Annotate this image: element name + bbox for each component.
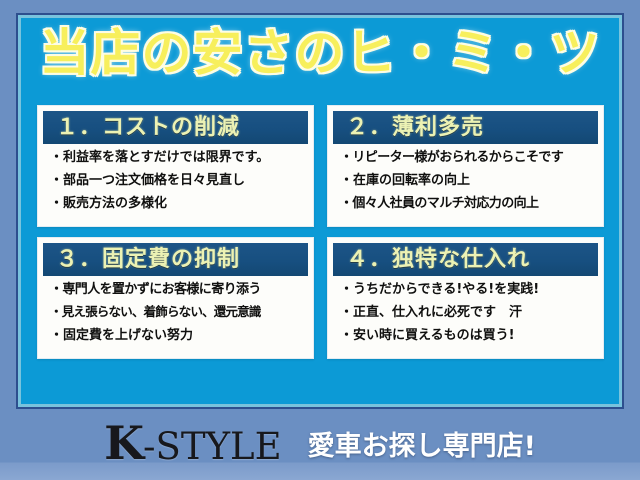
footer-bar: K-STYLE 愛車お探し専門店! <box>0 412 640 474</box>
reason-card-4: ４．独特な仕入れ ・うちだからできる!やる!を実践! ・正直、仕入れに必死です … <box>327 237 604 359</box>
reason-card-1-title: １．コストの削減 <box>43 111 308 144</box>
reason-card-3-title: ３．固定費の抑制 <box>43 243 308 276</box>
reason-card-2-title: ２．薄利多売 <box>333 111 598 144</box>
brand-logo: K-STYLE <box>104 420 282 466</box>
panel-inner-border: 当店の安さのヒ・ミ・ツ １．コストの削減 ・利益率を落とすだけでは限界です。 ・… <box>18 15 622 407</box>
brand-initial: K <box>104 416 143 470</box>
headline-title: 当店の安さのヒ・ミ・ツ <box>21 25 619 81</box>
reasons-grid: １．コストの削減 ・利益率を落とすだけでは限界です。 ・部品一つ注文価格を日々見… <box>37 105 604 359</box>
list-item: ・固定費を上げない努力 <box>50 329 304 342</box>
reason-card-2-body: ・リピーター様がおられるからこそです ・在庫の回転率の向上 ・個々人社員のマルチ… <box>333 144 598 210</box>
reason-card-1: １．コストの削減 ・利益率を落とすだけでは限界です。 ・部品一つ注文価格を日々見… <box>37 105 314 227</box>
list-item: ・安い時に買えるものは買う! <box>340 329 594 342</box>
reason-card-3: ３．固定費の抑制 ・専門人を置かずにお客様に寄り添う ・見え張らない、着飾らない… <box>37 237 314 359</box>
reason-card-2: ２．薄利多売 ・リピーター様がおられるからこそです ・在庫の回転率の向上 ・個々… <box>327 105 604 227</box>
list-item: ・専門人を置かずにお客様に寄り添う <box>50 283 304 296</box>
panel-outer-border: 当店の安さのヒ・ミ・ツ １．コストの削減 ・利益率を落とすだけでは限界です。 ・… <box>16 13 624 409</box>
footer-tagline: 愛車お探し専門店! <box>308 424 536 463</box>
list-item: ・見え張らない、着飾らない、還元意識 <box>50 306 304 319</box>
list-item: ・うちだからできる!やる!を実践! <box>340 283 594 296</box>
list-item: ・販売方法の多様化 <box>50 197 304 210</box>
reason-card-1-body: ・利益率を落とすだけでは限界です。 ・部品一つ注文価格を日々見直し ・販売方法の… <box>43 144 308 210</box>
list-item: ・在庫の回転率の向上 <box>340 174 594 187</box>
brand-name-rest: -STYLE <box>143 425 282 468</box>
list-item: ・個々人社員のマルチ対応力の向上 <box>340 197 594 210</box>
advertisement-canvas: 当店の安さのヒ・ミ・ツ １．コストの削減 ・利益率を落とすだけでは限界です。 ・… <box>0 0 640 480</box>
panel-body: 当店の安さのヒ・ミ・ツ １．コストの削減 ・利益率を落とすだけでは限界です。 ・… <box>21 18 619 404</box>
reason-card-3-body: ・専門人を置かずにお客様に寄り添う ・見え張らない、着飾らない、還元意識 ・固定… <box>43 276 308 342</box>
reason-card-4-body: ・うちだからできる!やる!を実践! ・正直、仕入れに必死です 汗 ・安い時に買え… <box>333 276 598 342</box>
reason-card-4-title: ４．独特な仕入れ <box>333 243 598 276</box>
list-item: ・正直、仕入れに必死です 汗 <box>340 306 594 319</box>
list-item: ・リピーター様がおられるからこそです <box>340 151 594 164</box>
list-item: ・部品一つ注文価格を日々見直し <box>50 174 304 187</box>
list-item: ・利益率を落とすだけでは限界です。 <box>50 151 304 164</box>
